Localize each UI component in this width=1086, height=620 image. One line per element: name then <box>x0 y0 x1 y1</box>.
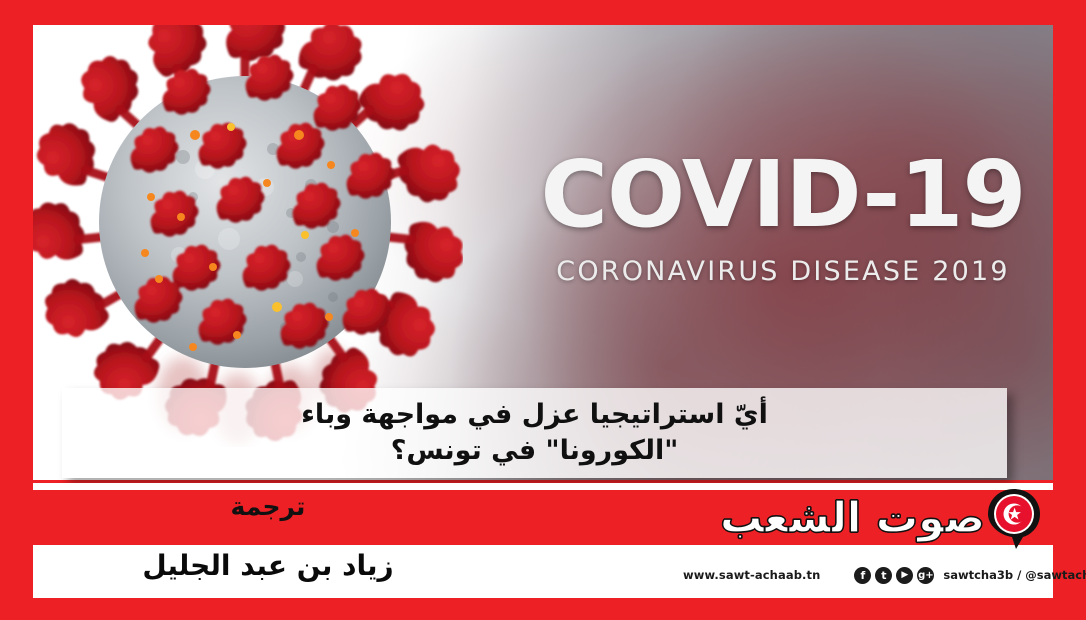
headline-line-2: "الكورونا" في تونس؟ <box>391 433 679 469</box>
tunisian-flag-speech-bubble-icon <box>985 487 1043 551</box>
translation-label: ترجمة <box>33 492 503 521</box>
translator-name: زياد بن عبد الجليل <box>33 549 503 582</box>
headline-line-1: أيّ استراتيجيا عزل في مواجهة وباء <box>301 397 768 433</box>
facebook-icon[interactable]: f <box>854 567 871 584</box>
coronavirus-icon <box>33 25 463 447</box>
sawt-achaab-logo[interactable]: صوت الشعب <box>685 487 1045 553</box>
footer-strip: ترجمة زياد بن عبد الجليل صوت الشعب www.s… <box>33 483 1053 598</box>
googleplus-icon[interactable]: g+ <box>917 567 934 584</box>
website-url[interactable]: www.sawt-achaab.tn <box>683 568 820 582</box>
youtube-icon[interactable]: ▶ <box>896 567 913 584</box>
social-handles[interactable]: sawtcha3b / @sawtachaab <box>943 568 1086 582</box>
footer-contact-row: www.sawt-achaab.tn f t ▶ g+ sawtcha3b / … <box>683 563 1053 587</box>
headline-banner: أيّ استراتيجيا عزل في مواجهة وباء "الكور… <box>62 388 1007 478</box>
twitter-icon[interactable]: t <box>875 567 892 584</box>
poster-root: COVID-19 CORONAVIRUS DISEASE 2019 أيّ اس… <box>0 0 1086 620</box>
logo-wordmark: صوت الشعب <box>720 489 985 547</box>
social-icon-group: f t ▶ g+ <box>854 567 934 584</box>
